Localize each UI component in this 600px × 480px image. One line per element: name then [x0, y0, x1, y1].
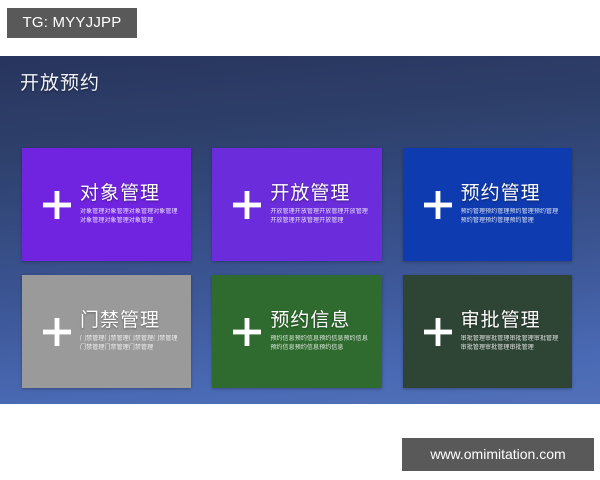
- open-reservation-panel: 开放预约 对象管理对象管理对象管理对象管理对象管理对象管理对象管理对象管理开放管…: [0, 56, 600, 404]
- module-tile-text: 预约管理预约管理预约管理预约管理预约管理预约管理预约管理预约管理: [461, 183, 572, 226]
- plus-icon: [34, 190, 80, 220]
- module-tile-subtitle: 预约信息预约信息预约信息预约信息预约信息预约信息预约信息: [270, 335, 373, 354]
- site-watermark: www.omimitation.com: [402, 438, 594, 471]
- tg-watermark-label: TG: MYYJJPP: [23, 14, 122, 31]
- module-tile[interactable]: 对象管理对象管理对象管理对象管理对象管理对象管理对象管理对象管理: [22, 148, 191, 261]
- module-tile-title: 开放管理: [270, 183, 373, 205]
- site-watermark-label: www.omimitation.com: [430, 446, 565, 462]
- module-tile-text: 门禁管理门禁管理门禁管理门禁管理门禁管理门禁管理门禁管理门禁管理: [80, 310, 191, 353]
- module-tile-grid: 对象管理对象管理对象管理对象管理对象管理对象管理对象管理对象管理开放管理开放管理…: [22, 148, 572, 388]
- plus-icon: [224, 317, 270, 347]
- plus-icon: [34, 317, 80, 347]
- module-tile-text: 对象管理对象管理对象管理对象管理对象管理对象管理对象管理对象管理: [80, 183, 191, 226]
- module-tile-title: 门禁管理: [80, 310, 183, 332]
- module-tile[interactable]: 开放管理开放管理开放管理开放管理开放管理开放管理开放管理开放管理: [212, 148, 381, 261]
- module-tile-subtitle: 预约管理预约管理预约管理预约管理预约管理预约管理预约管理: [461, 208, 564, 227]
- module-tile[interactable]: 审批管理审批管理审批管理审批管理审批管理审批管理审批管理审批管理: [403, 275, 572, 388]
- module-tile-subtitle: 开放管理开放管理开放管理开放管理开放管理开放管理开放管理: [270, 208, 373, 227]
- module-tile-text: 开放管理开放管理开放管理开放管理开放管理开放管理开放管理开放管理: [270, 183, 381, 226]
- module-tile-text: 审批管理审批管理审批管理审批管理审批管理审批管理审批管理审批管理: [461, 310, 572, 353]
- plus-icon: [415, 317, 461, 347]
- module-tile-title: 审批管理: [461, 310, 564, 332]
- module-tile[interactable]: 门禁管理门禁管理门禁管理门禁管理门禁管理门禁管理门禁管理门禁管理: [22, 275, 191, 388]
- module-tile-text: 预约信息预约信息预约信息预约信息预约信息预约信息预约信息预约信息: [270, 310, 381, 353]
- module-tile[interactable]: 预约信息预约信息预约信息预约信息预约信息预约信息预约信息预约信息: [212, 275, 381, 388]
- module-tile-subtitle: 对象管理对象管理对象管理对象管理对象管理对象管理对象管理: [80, 208, 183, 227]
- module-tile-title: 预约管理: [461, 183, 564, 205]
- plus-icon: [224, 190, 270, 220]
- module-tile-title: 预约信息: [270, 310, 373, 332]
- tg-watermark-badge: TG: MYYJJPP: [7, 8, 137, 38]
- module-tile[interactable]: 预约管理预约管理预约管理预约管理预约管理预约管理预约管理预约管理: [403, 148, 572, 261]
- module-tile-title: 对象管理: [80, 183, 183, 205]
- module-tile-subtitle: 门禁管理门禁管理门禁管理门禁管理门禁管理门禁管理门禁管理: [80, 335, 183, 354]
- plus-icon: [415, 190, 461, 220]
- page-title: 开放预约: [20, 68, 100, 95]
- module-tile-subtitle: 审批管理审批管理审批管理审批管理审批管理审批管理审批管理: [461, 335, 564, 354]
